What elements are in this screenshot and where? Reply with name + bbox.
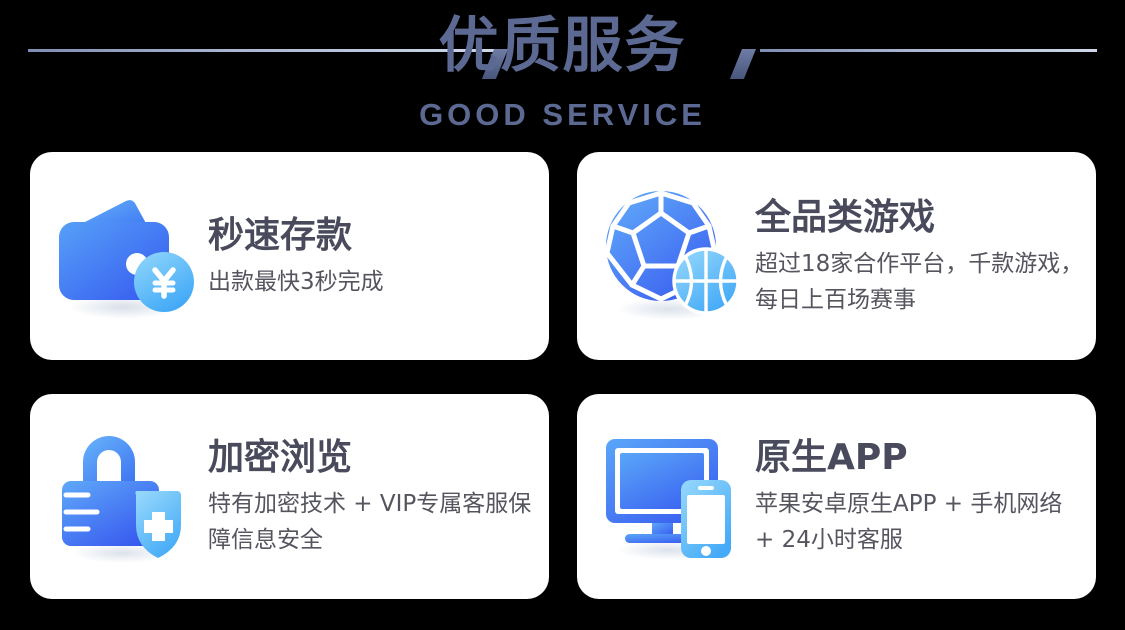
feature-card-title: 秒速存款	[208, 213, 384, 259]
feature-card-games[interactable]: 全品类游戏 超过18家合作平台，千款游戏，每日上百场赛事	[577, 152, 1096, 360]
feature-card-text: 加密浏览 特有加密技术 + VIP专属客服保障信息安全	[202, 435, 548, 558]
feature-card-desc: 超过18家合作平台，千款游戏，每日上百场赛事	[755, 246, 1085, 318]
feature-card-title: 全品类游戏	[755, 195, 1085, 241]
wallet-yen-icon	[52, 181, 202, 331]
feature-card-text: 全品类游戏 超过18家合作平台，千款游戏，每日上百场赛事	[749, 195, 1095, 318]
monitor-phone-icon	[599, 422, 749, 572]
feature-card-text: 原生APP 苹果安卓原生APP + 手机网络 + 24小时客服	[749, 435, 1095, 558]
feature-card-desc: 出款最快3秒完成	[208, 264, 384, 300]
feature-card-grid: 秒速存款 出款最快3秒完成	[30, 152, 1096, 598]
soccer-basketball-icon	[599, 181, 749, 331]
lock-shield-icon	[52, 422, 202, 572]
page-header: 优质服务 GOOD SERVICE	[0, 0, 1125, 148]
feature-card-desc: 特有加密技术 + VIP专属客服保障信息安全	[208, 486, 538, 558]
feature-card-native-app[interactable]: 原生APP 苹果安卓原生APP + 手机网络 + 24小时客服	[577, 394, 1096, 599]
feature-card-title: 原生APP	[755, 435, 1085, 481]
page-subtitle: GOOD SERVICE	[0, 98, 1125, 132]
feature-card-deposit[interactable]: 秒速存款 出款最快3秒完成	[30, 152, 549, 360]
page-title: 优质服务	[0, 8, 1125, 84]
feature-card-title: 加密浏览	[208, 435, 538, 481]
feature-card-desc: 苹果安卓原生APP + 手机网络 + 24小时客服	[755, 486, 1085, 558]
feature-card-encryption[interactable]: 加密浏览 特有加密技术 + VIP专属客服保障信息安全	[30, 394, 549, 599]
feature-card-text: 秒速存款 出款最快3秒完成	[202, 213, 394, 300]
